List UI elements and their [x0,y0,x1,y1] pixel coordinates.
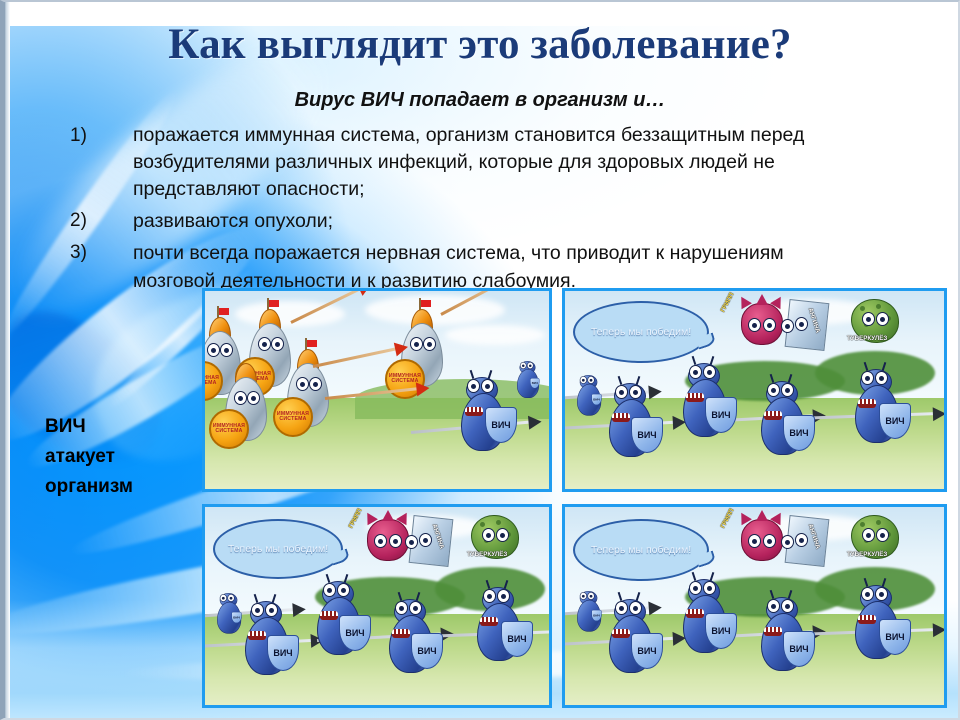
eye-icon [580,376,587,384]
flag-icon [420,300,431,307]
eye-icon [748,318,761,332]
eye-icon [763,534,776,548]
immune-shield: ИММУННАЯ СИСТЕМА [209,409,249,449]
cartoon-scene: ИММУННАЯ СИСТЕМА ИММУННАЯ СИСТЕМА [205,291,549,489]
disease-label-tuberculosis: ТУБЕРКУЛЁЗ [467,551,507,558]
subtitle: Вирус ВИЧ попадает в организм и… [60,89,900,112]
eye-icon [861,587,874,601]
speech-bubble: Теперь мы победим! [573,301,709,363]
cartoon-scene: Теперь мы победим! ГРИПП АНГИНА [565,507,944,705]
disease-label-tuberculosis: ТУБЕРКУЛЁЗ [847,551,887,558]
eye-icon [520,362,527,369]
spike-icon [382,510,394,521]
side-caption-line3: организм [45,472,205,502]
eye-icon [876,528,889,542]
mouth-icon [392,629,410,638]
list-item-number: 2) [70,207,116,234]
eye-icon [410,337,423,351]
eye-icon [615,601,628,615]
eye-icon [296,377,309,391]
illustration-panel-hiv-army[interactable]: Теперь мы победим! ГРИПП АНГИНА [562,504,947,708]
cloud-icon [365,295,505,325]
eye-icon [781,599,794,613]
eye-icon [875,587,888,601]
eye-icon [861,371,874,385]
eye-icon [527,362,534,369]
list-item: 2) развиваются опухоли; [0,207,920,235]
eye-icon [703,581,716,595]
eye-icon [876,312,889,326]
list-item-number: 1) [70,122,116,149]
mouth-icon [248,631,266,640]
slide-content: Как выглядит это заболевание? Вирус ВИЧ … [0,0,960,720]
side-caption-line2: атакует [45,442,205,472]
mouth-icon [764,627,782,636]
eye-icon [763,318,776,332]
eye-icon [405,535,418,549]
eye-icon [265,603,278,617]
illustration-grid: ИММУННАЯ СИСТЕМА ИММУННАЯ СИСТЕМА [202,288,947,708]
eye-icon [409,601,422,615]
eye-icon [587,592,594,600]
disease-flu-character [367,519,409,561]
list-item: 3) почти всегда поражается нервная систе… [0,239,920,295]
eye-icon [703,365,716,379]
eye-icon [615,385,628,399]
page-title: Как выглядит это заболевание? [60,22,900,67]
eye-icon [580,592,587,600]
cartoon-scene: Теперь мы победим! ГРИПП АНГИНА [205,507,549,705]
flag-icon [218,308,229,315]
eye-icon [496,528,509,542]
list-item-number: 3) [70,239,116,266]
mouth-icon [858,399,876,408]
eye-icon [220,343,233,357]
list-item-text: развиваются опухоли; [133,207,860,235]
illustration-panel-immune-vs-hiv[interactable]: ИММУННАЯ СИСТЕМА ИММУННАЯ СИСТЕМА [202,288,552,492]
eye-icon [419,533,432,547]
eye-icon [374,534,387,548]
list-item: 1) поражается иммунная система, организм… [0,122,920,203]
eye-icon [207,343,220,357]
eye-icon [389,534,402,548]
mouth-icon [686,609,704,618]
eye-icon [247,391,260,405]
side-caption: ВИЧ атакует организм [45,412,205,502]
eye-icon [689,365,702,379]
side-caption-line1: ВИЧ [45,412,205,442]
cartoon-scene: Теперь мы победим! ГРИПП АНГИНА [565,291,944,489]
list-item-text: почти всегда поражается нервная система,… [133,239,860,295]
disease-label-tuberculosis: ТУБЕРКУЛЁЗ [847,335,887,342]
mouth-icon [686,393,704,402]
eye-icon [781,383,794,397]
mouth-icon [612,413,630,422]
mouth-icon [480,617,498,626]
disease-flu-character [741,303,783,345]
eye-icon [862,312,875,326]
mouth-icon [612,629,630,638]
eye-icon [781,319,794,333]
eye-icon [795,533,808,547]
mouth-icon [858,615,876,624]
illustration-panel-hiv-army[interactable]: Теперь мы победим! ГРИПП АНГИНА [562,288,947,492]
eye-icon [781,535,794,549]
eye-icon [587,376,594,384]
eye-icon [748,534,761,548]
mouth-icon [320,611,338,620]
eye-icon [629,601,642,615]
eye-icon [258,337,271,351]
eye-icon [482,528,495,542]
cloud-icon [445,325,545,345]
list-item-text: поражается иммунная система, организм ст… [133,122,860,203]
eye-icon [220,594,227,602]
eye-icon [767,599,780,613]
mouth-icon [764,411,782,420]
eye-icon [467,379,480,393]
slide: Как выглядит это заболевание? Вирус ВИЧ … [0,0,960,720]
eye-icon [862,528,875,542]
eye-icon [795,317,808,331]
eye-icon [309,377,322,391]
eye-icon [629,385,642,399]
eye-icon [323,583,336,597]
illustration-panel-hiv-army[interactable]: Теперь мы победим! ГРИПП АНГИНА [202,504,552,708]
eye-icon [497,589,510,603]
eye-icon [227,594,234,602]
eye-icon [395,601,408,615]
spike-icon [756,294,768,305]
eye-icon [483,589,496,603]
eye-icon [767,383,780,397]
eye-icon [875,371,888,385]
eye-icon [337,583,350,597]
flag-icon [306,340,317,347]
immune-shield: ИММУННАЯ СИСТЕМА [273,397,313,437]
speech-bubble: Теперь мы победим! [573,519,709,581]
numbered-list: 1) поражается иммунная система, организм… [0,122,920,299]
eye-icon [271,337,284,351]
eye-icon [251,603,264,617]
eye-icon [481,379,494,393]
speech-bubble: Теперь мы победим! [213,519,343,579]
eye-icon [423,337,436,351]
mouth-icon [465,407,483,416]
flag-icon [268,300,279,307]
spike-icon [756,510,768,521]
eye-icon [234,391,247,405]
disease-flu-character [741,519,783,561]
eye-icon [689,581,702,595]
